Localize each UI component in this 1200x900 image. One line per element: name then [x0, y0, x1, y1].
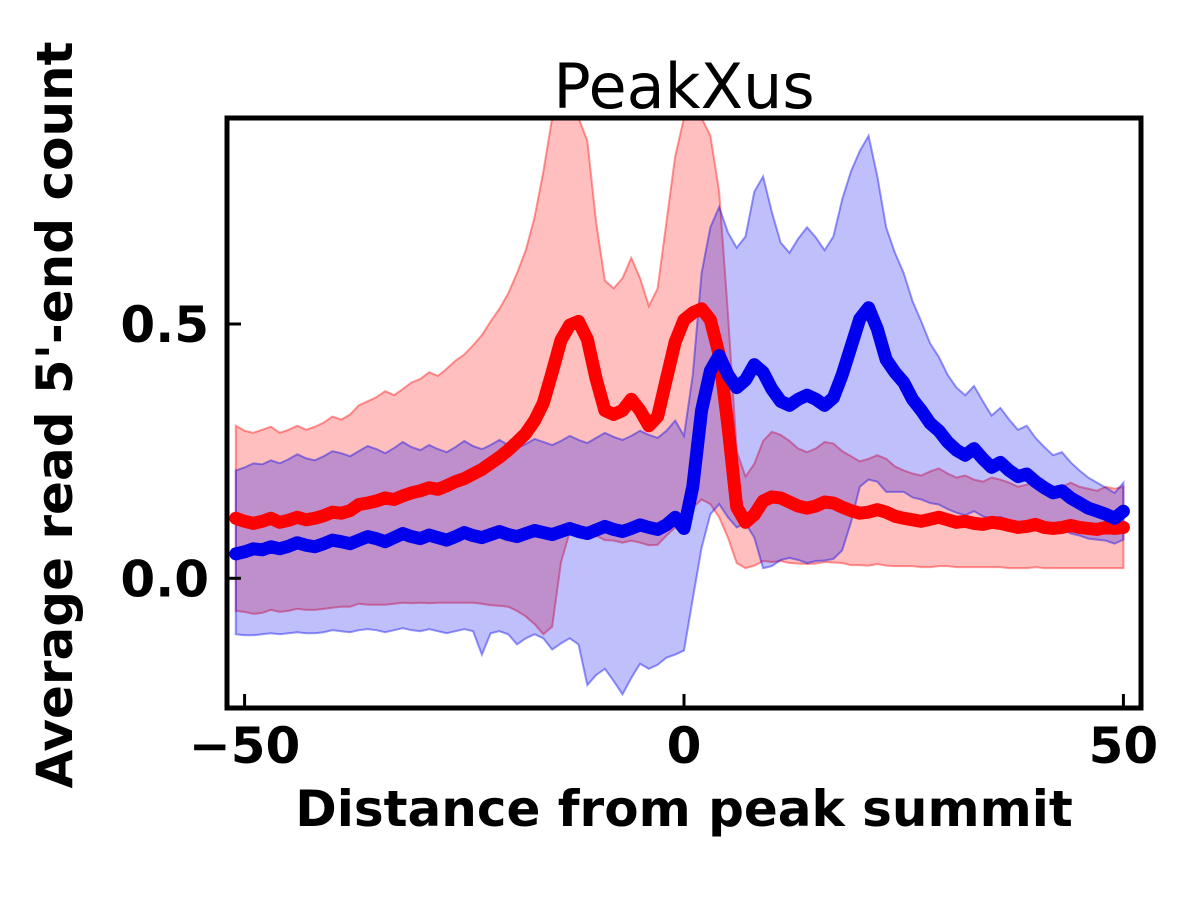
x-tick-label: −50 [189, 717, 300, 775]
x-tick-label: 50 [1089, 717, 1159, 775]
y-axis-title: Average read 5'-end count [26, 41, 84, 788]
y-tick-label: 0.5 [120, 296, 209, 354]
chart-canvas: −500500.00.5 PeakXus Distance from peak … [0, 0, 1200, 900]
chart-title: PeakXus [553, 50, 814, 123]
confidence-bands-layer [236, 118, 1124, 694]
y-tick-label: 0.0 [120, 550, 209, 608]
x-axis-title: Distance from peak summit [295, 780, 1073, 838]
x-tick-label: 0 [667, 717, 702, 775]
figure-container: −500500.00.5 PeakXus Distance from peak … [0, 0, 1200, 900]
